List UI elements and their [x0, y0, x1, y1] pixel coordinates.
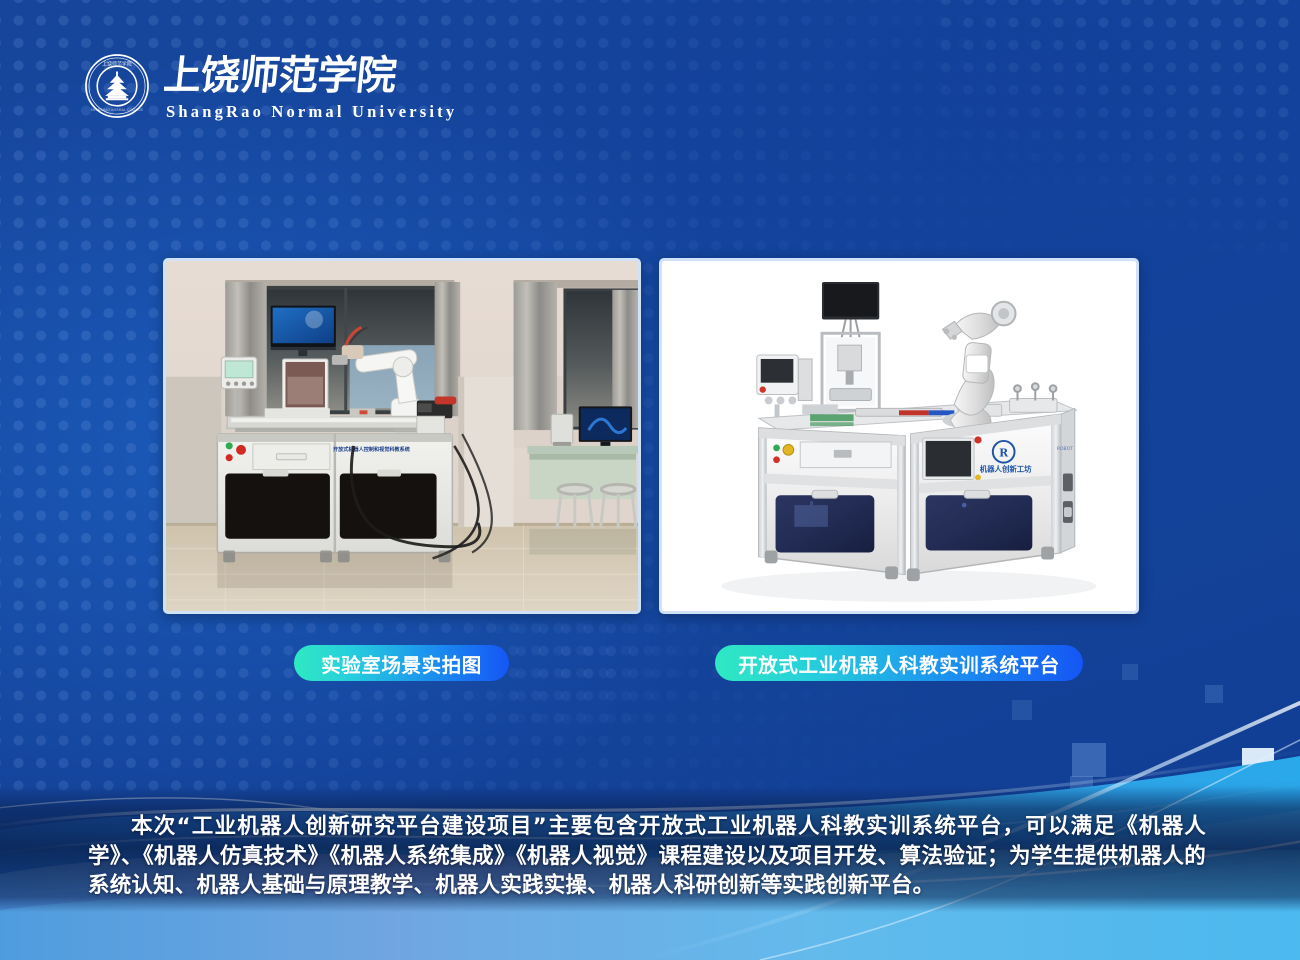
svg-text:上饶师范学院: 上饶师范学院: [164, 53, 399, 99]
svg-text:SHANGRAO NORMAL COLLEGE: SHANGRAO NORMAL COLLEGE: [91, 108, 143, 112]
background-dot-grid-top-right: [940, 0, 1300, 254]
svg-text:ROBOT: ROBOT: [1057, 446, 1073, 452]
svg-text:R: R: [999, 447, 1009, 460]
svg-text:上饶师范学院: 上饶师范学院: [102, 61, 132, 68]
svg-text:机器人创新工坊: 机器人创新工坊: [980, 465, 1032, 474]
slide-root: 上饶师范学院 SHANGRAO NORMAL COLLEGE 上饶师范学院 Sh…: [0, 0, 1300, 960]
logo-english-name: ShangRao Normal University: [166, 104, 457, 121]
university-logo: 上饶师范学院 SHANGRAO NORMAL COLLEGE 上饶师范学院 Sh…: [84, 52, 457, 121]
training-platform-render: R 机器人创新工坊 ROBOT: [659, 258, 1139, 614]
laboratory-scene-photo: 开放式机器人控制和视觉科教系统: [163, 258, 641, 614]
logo-chinese-name: 上饶师范学院: [164, 52, 416, 100]
svg-text:开放式机器人控制和视觉科教系统: 开放式机器人控制和视觉科教系统: [333, 445, 411, 453]
description-paragraph: 本次“工业机器人创新研究平台建设项目”主要包含开放式工业机器人科教实训系统平台，…: [88, 812, 1206, 901]
university-seal-icon: 上饶师范学院 SHANGRAO NORMAL COLLEGE: [84, 53, 150, 119]
